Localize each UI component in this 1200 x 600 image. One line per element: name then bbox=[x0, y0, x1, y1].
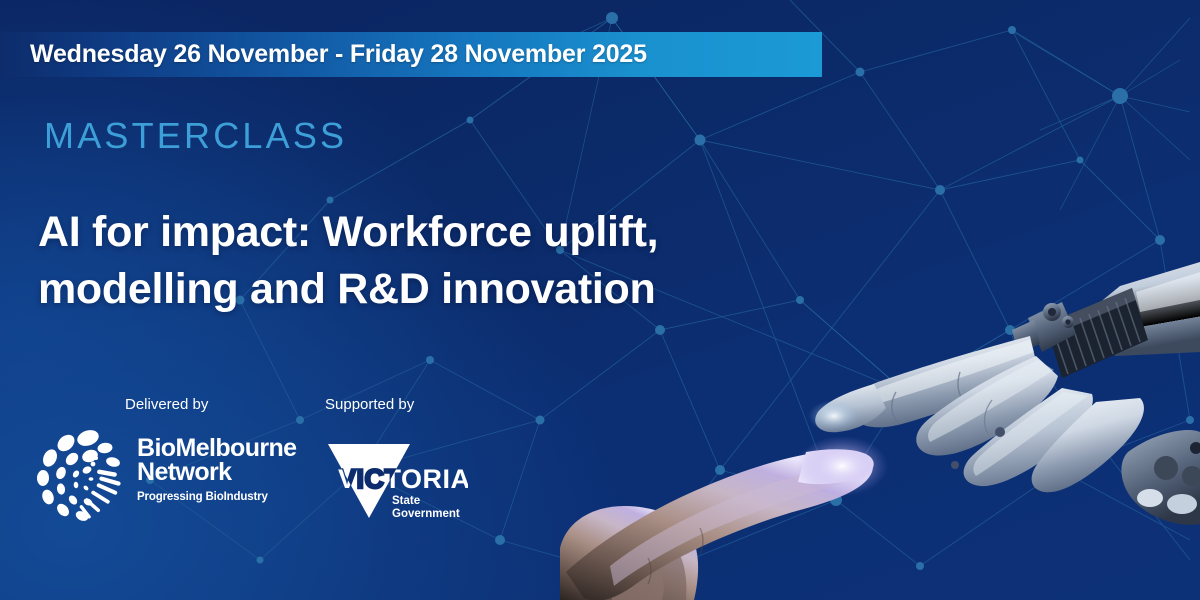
victoria-subtext-government: Government bbox=[392, 508, 460, 520]
biomelbourne-wordmark: BioMelbourne Network Progressing BioIndu… bbox=[137, 436, 296, 503]
event-date-banner: Wednesday 26 November - Friday 28 Novemb… bbox=[0, 32, 822, 77]
page-title-line-1: AI for impact: Workforce uplift, bbox=[38, 204, 858, 261]
victoria-state-government-logo: VICTORIA VICTORIA State Government bbox=[318, 438, 468, 520]
delivered-by-label: Delivered by bbox=[125, 396, 208, 413]
page-title: AI for impact: Workforce uplift, modelli… bbox=[38, 204, 858, 318]
biomelbourne-wordmark-line-1: BioMelbourne bbox=[137, 436, 296, 460]
biomelbourne-network-logo: BioMelbourne Network Progressing BioIndu… bbox=[33, 426, 303, 526]
event-type-eyebrow: MASTERCLASS bbox=[44, 118, 347, 154]
page-title-line-2: modelling and R&D innovation bbox=[38, 261, 858, 318]
partner-logos-section: Delivered by Supported by bbox=[0, 396, 520, 420]
victoria-logo-graphic: VICTORIA VICTORIA State Government bbox=[318, 438, 468, 520]
victoria-subtext-state: State bbox=[392, 495, 420, 507]
biomelbourne-wordmark-line-2: Network bbox=[137, 460, 296, 484]
biomelbourne-swirl-icon bbox=[33, 428, 131, 524]
biomelbourne-tagline: Progressing BioIndustry bbox=[137, 491, 296, 503]
event-promo-banner: Wednesday 26 November - Friday 28 Novemb… bbox=[0, 0, 1200, 600]
partner-labels: Delivered by Supported by bbox=[0, 396, 520, 420]
event-date-text: Wednesday 26 November - Friday 28 Novemb… bbox=[0, 40, 647, 69]
supported-by-label: Supported by bbox=[325, 396, 414, 413]
